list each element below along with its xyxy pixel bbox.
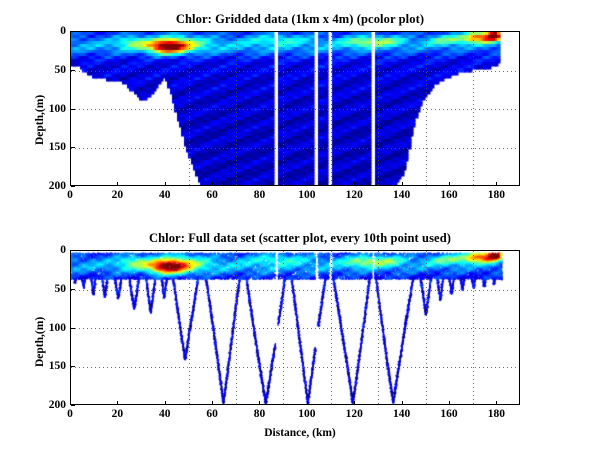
xtick-label: 80: [254, 189, 266, 201]
ytick-label: 100: [34, 103, 66, 115]
ytick-mark: [71, 405, 75, 406]
gridline: [71, 367, 519, 368]
ytick-label: 50: [34, 64, 66, 76]
xtick-mark: [402, 182, 403, 186]
xtick-label: 140: [393, 408, 410, 420]
xtick-mark: [449, 401, 450, 405]
xtick-label: 20: [112, 189, 124, 201]
ytick-label: 150: [34, 360, 66, 372]
xtick-label: 60: [206, 408, 218, 420]
axes-top: [70, 31, 520, 186]
panel-scatter-full: Chlor: Full data set (scatter plot, ever…: [0, 222, 600, 451]
gridline: [71, 290, 519, 291]
gridline: [71, 148, 519, 149]
ytick-mark: [71, 147, 75, 148]
xtick-mark: [165, 182, 166, 186]
xtick-mark: [212, 182, 213, 186]
xtick-mark: [354, 401, 355, 405]
xtick-mark: [449, 182, 450, 186]
xlabel-bottom: Distance, (km): [0, 427, 600, 439]
ytick-mark: [71, 250, 75, 251]
xtick-label: 120: [346, 408, 363, 420]
gridline: [71, 71, 519, 72]
ytick-mark: [71, 289, 75, 290]
ytick-mark: [71, 31, 75, 32]
axes-bottom: [70, 250, 520, 405]
xtick-mark: [117, 182, 118, 186]
xtick-mark: [212, 401, 213, 405]
ytick-label: 100: [34, 322, 66, 334]
gridline: [71, 109, 519, 110]
gridline: [71, 328, 519, 329]
ytick-label: 150: [34, 141, 66, 153]
xtick-mark: [307, 182, 308, 186]
xtick-mark: [165, 401, 166, 405]
ytick-label: 200: [34, 180, 66, 192]
xtick-mark: [496, 182, 497, 186]
xtick-mark: [259, 401, 260, 405]
panel-gridded-pcolor: Chlor: Gridded data (1km x 4m) (pcolor p…: [0, 0, 600, 215]
xtick-mark: [496, 401, 497, 405]
subplot-title-bottom: Chlor: Full data set (scatter plot, ever…: [0, 231, 600, 246]
xtick-mark: [402, 401, 403, 405]
ytick-label: 50: [34, 283, 66, 295]
xtick-label: 100: [298, 408, 315, 420]
xtick-label: 180: [488, 189, 505, 201]
xtick-label: 40: [159, 189, 171, 201]
xtick-label: 120: [346, 189, 363, 201]
xtick-label: 80: [254, 408, 266, 420]
xtick-label: 140: [393, 189, 410, 201]
xtick-mark: [354, 182, 355, 186]
xtick-mark: [307, 401, 308, 405]
xtick-label: 180: [488, 408, 505, 420]
xtick-label: 160: [440, 189, 457, 201]
ytick-mark: [71, 70, 75, 71]
xtick-label: 0: [67, 408, 73, 420]
xtick-mark: [259, 182, 260, 186]
xtick-mark: [117, 401, 118, 405]
xtick-label: 100: [298, 189, 315, 201]
xtick-label: 160: [440, 408, 457, 420]
xtick-label: 20: [112, 408, 124, 420]
xtick-label: 40: [159, 408, 171, 420]
ytick-label: 0: [34, 25, 66, 37]
subplot-title-top: Chlor: Gridded data (1km x 4m) (pcolor p…: [0, 12, 600, 27]
ytick-mark: [71, 109, 75, 110]
xtick-label: 0: [67, 189, 73, 201]
ytick-label: 0: [34, 244, 66, 256]
ytick-mark: [71, 366, 75, 367]
xtick-label: 60: [206, 189, 218, 201]
ytick-label: 200: [34, 399, 66, 411]
ytick-mark: [71, 186, 75, 187]
figure-canvas: Chlor: Gridded data (1km x 4m) (pcolor p…: [0, 0, 600, 451]
ytick-mark: [71, 328, 75, 329]
